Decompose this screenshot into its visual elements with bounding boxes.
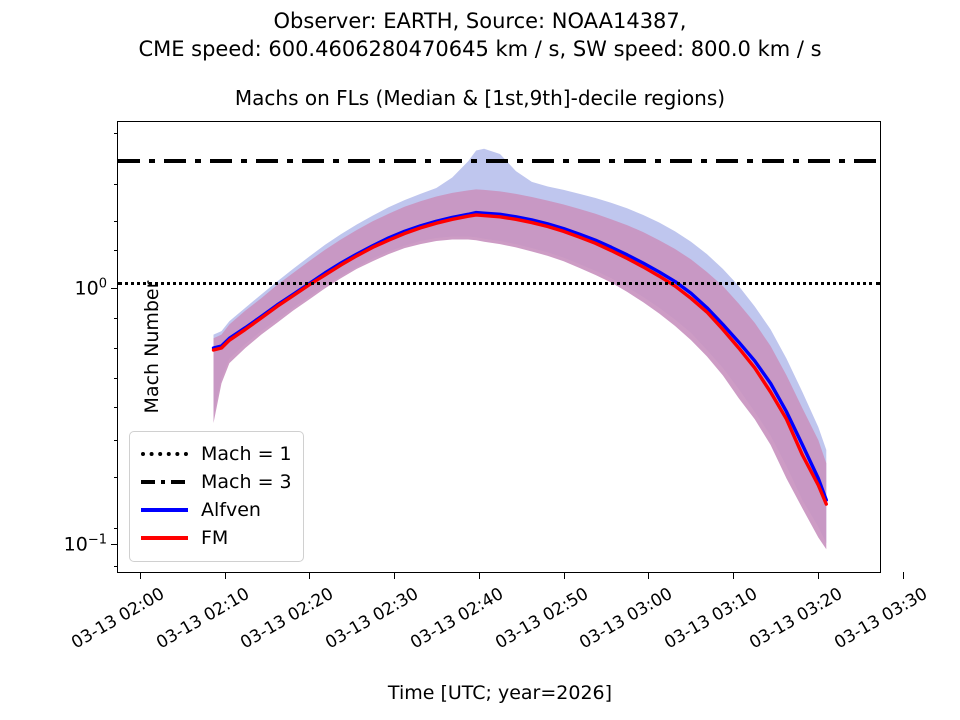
mach-3-reference-line (118, 159, 880, 162)
fm-decile-band (214, 189, 827, 549)
x-tick (225, 572, 226, 579)
legend-item-alfven[interactable]: Alfven (141, 496, 292, 524)
x-tick (733, 572, 734, 579)
legend-item-mach-3[interactable]: Mach = 3 (141, 468, 292, 496)
figure-suptitle: Observer: EARTH, Source: NOAA14387, CME … (0, 8, 960, 63)
x-tick-label: 03-13 03:30 (831, 584, 931, 653)
y-tick-major-1e-1 (111, 544, 118, 545)
x-tick-label: 03-13 03:20 (746, 584, 846, 653)
dotted-line-icon (141, 446, 188, 462)
x-tick-label: 03-13 03:00 (576, 584, 676, 653)
y-tick-label-1e-1: 10−1 (64, 532, 107, 555)
red-line-icon (141, 530, 188, 546)
figure-canvas: Observer: EARTH, Source: NOAA14387, CME … (0, 0, 960, 720)
x-tick-label: 03-13 02:40 (407, 584, 507, 653)
suptitle-line-1: Observer: EARTH, Source: NOAA14387, (274, 9, 687, 33)
x-tick-label: 03-13 02:10 (153, 584, 253, 653)
legend-label: FM (201, 527, 228, 549)
x-tick (479, 572, 480, 579)
x-tick-label: 03-13 02:00 (68, 584, 168, 653)
x-tick-label: 03-13 03:10 (661, 584, 761, 653)
legend-label: Mach = 1 (201, 443, 292, 465)
x-tick (818, 572, 819, 579)
x-tick (309, 572, 310, 579)
x-tick-label: 03-13 02:20 (237, 584, 337, 653)
plot-axes: Mach Number 100 10−1 03-13 02:00 03-13 0… (117, 121, 881, 573)
mach-1-reference-line (118, 282, 880, 285)
y-tick-label-1e0: 100 (75, 276, 107, 299)
suptitle-line-2: CME speed: 600.4606280470645 km / s, SW … (138, 37, 821, 61)
axes-title: Machs on FLs (Median & [1st,9th]-decile … (0, 86, 960, 110)
x-tick (394, 572, 395, 579)
blue-line-icon (141, 502, 188, 518)
x-tick-label: 03-13 02:50 (492, 584, 592, 653)
legend-item-fm[interactable]: FM (141, 524, 292, 552)
legend-box[interactable]: Mach = 1 Mach = 3 Alfven FM (129, 431, 304, 562)
x-tick (140, 572, 141, 579)
legend-label: Mach = 3 (201, 471, 292, 493)
x-axis-label: Time [UTC; year=2026] (118, 682, 882, 704)
x-tick (903, 572, 904, 579)
x-tick-label: 03-13 02:30 (322, 584, 422, 653)
dashdot-line-icon (141, 474, 188, 490)
legend-item-mach-1[interactable]: Mach = 1 (141, 440, 292, 468)
x-tick (564, 572, 565, 579)
y-tick-major-1e0 (111, 288, 118, 289)
x-tick (648, 572, 649, 579)
legend-label: Alfven (201, 499, 261, 521)
